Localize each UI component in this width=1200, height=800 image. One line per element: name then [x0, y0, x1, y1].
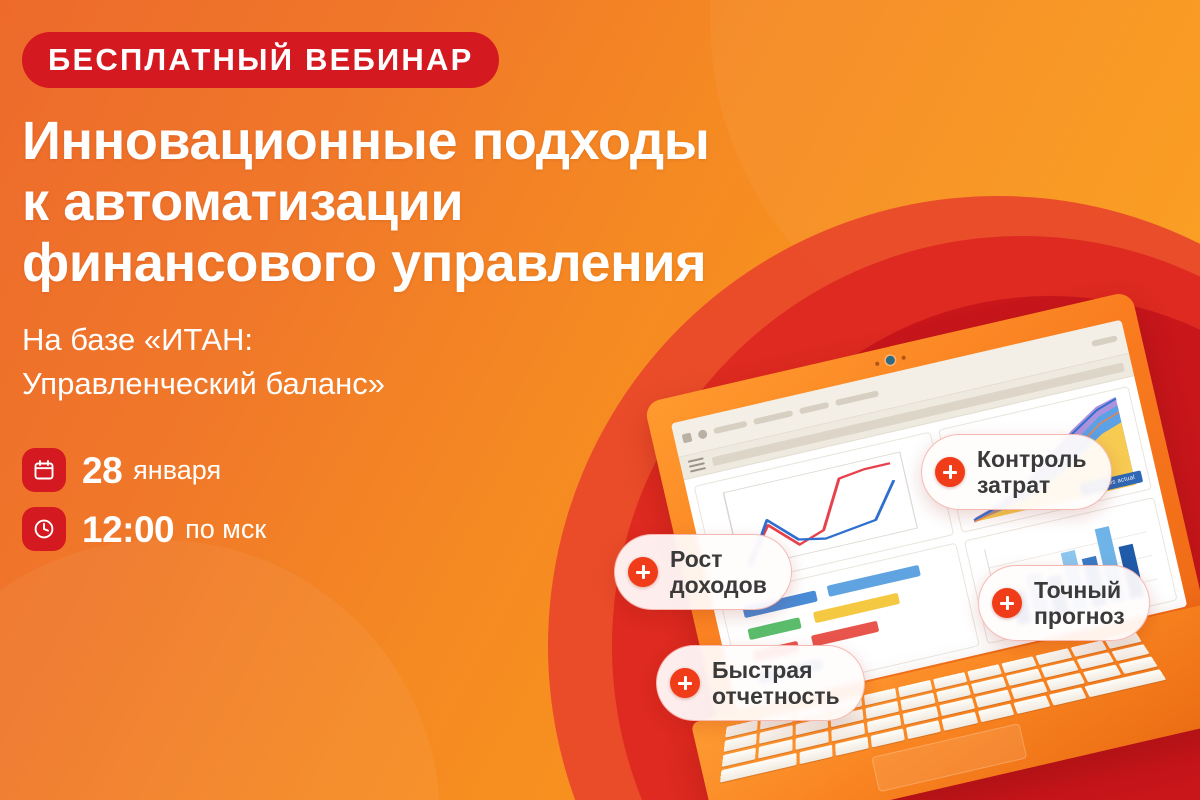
feature-pill-label: Контроль затрат [977, 446, 1087, 498]
page-title: Инновационные подходы к автоматизации фи… [22, 111, 812, 294]
feature-line-1: Быстрая [712, 657, 840, 683]
feature-pill-bystraya-otchetnost[interactable]: Быстрая отчетность [656, 645, 865, 721]
status-badge: БЕСПЛАТНЫЙ ВЕБИНАР [22, 32, 499, 88]
feature-pill-kontrol-zatrat[interactable]: Контроль затрат [921, 434, 1112, 510]
feature-line-1: Контроль [977, 446, 1087, 472]
subtitle-line-2: Управленческий баланс» [22, 362, 812, 406]
feature-line-2: затрат [977, 472, 1087, 498]
event-date-unit: января [133, 457, 221, 484]
event-time-value: 12:00 [82, 511, 174, 548]
plus-icon [935, 457, 965, 487]
plus-icon [670, 668, 700, 698]
feature-pill-rost-dohodov[interactable]: Рост доходов [614, 534, 792, 610]
toolbar-item[interactable] [835, 390, 879, 406]
webcam-icon [874, 352, 906, 368]
subtitle-line-1: На базе «ИТАН: [22, 318, 812, 362]
feature-line-2: отчетность [712, 683, 840, 709]
event-time-unit: по мск [185, 516, 266, 543]
page-subtitle: На базе «ИТАН: Управленческий баланс» [22, 318, 812, 406]
clock-icon [22, 507, 66, 551]
feature-line-1: Рост [670, 546, 767, 572]
feature-line-2: прогноз [1034, 603, 1125, 629]
event-date-value: 28 [82, 452, 122, 489]
event-date-row: 28 января [22, 448, 812, 492]
feature-pill-label: Быстрая отчетность [712, 657, 840, 709]
webinar-banner: budget vs actual [0, 0, 1200, 800]
feature-pill-label: Рост доходов [670, 546, 767, 598]
feature-line-1: Точный [1034, 577, 1125, 603]
feature-pill-label: Точный прогноз [1034, 577, 1125, 629]
search-icon[interactable] [1091, 335, 1118, 347]
feature-pill-tochnyy-prognoz[interactable]: Точный прогноз [978, 565, 1150, 641]
plus-icon [628, 557, 658, 587]
headline-line-3: финансового управления [22, 233, 812, 294]
feature-line-2: доходов [670, 572, 767, 598]
headline-line-1: Инновационные подходы [22, 111, 812, 172]
plus-icon [992, 588, 1022, 618]
headline-line-2: к автоматизации [22, 172, 812, 233]
calendar-icon [22, 448, 66, 492]
